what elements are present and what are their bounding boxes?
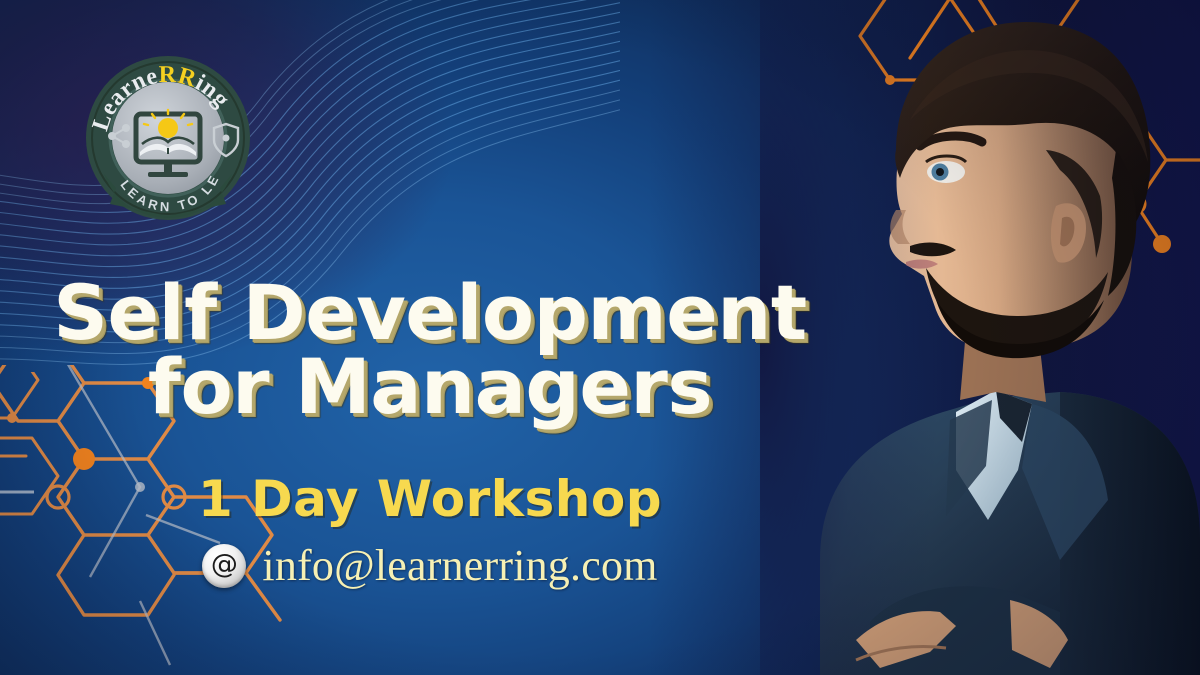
headline-line-2: for Managers bbox=[0, 350, 860, 424]
event-duration-subtitle: 1 Day Workshop bbox=[0, 470, 860, 528]
page-title: Self Development for Managers bbox=[0, 276, 860, 423]
learnerring-logo[interactable]: LearneRRing bbox=[82, 52, 254, 224]
at-sign-icon: @ bbox=[202, 544, 246, 588]
contact-row: @ info@learnerring.com bbox=[0, 540, 860, 591]
event-poster: LearneRRing bbox=[0, 0, 1200, 675]
headline-line-1: Self Development bbox=[0, 276, 860, 350]
contact-email[interactable]: info@learnerring.com bbox=[262, 540, 657, 591]
